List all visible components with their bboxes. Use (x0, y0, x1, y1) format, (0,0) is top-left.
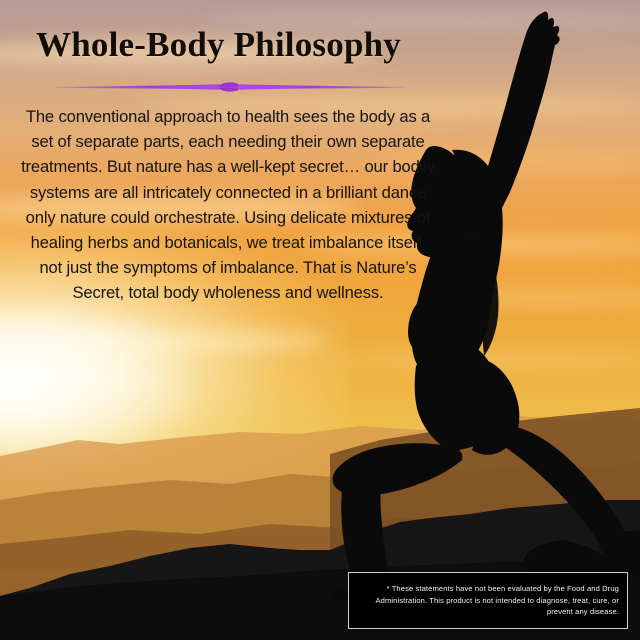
poster-canvas: Whole-Body Philosophy (0, 0, 640, 640)
page-title: Whole-Body Philosophy (36, 25, 401, 65)
body-paragraph: The conventional approach to health sees… (18, 104, 438, 306)
body-copy: The conventional approach to health sees… (18, 104, 438, 306)
disclaimer-box: * These statements have not been evaluat… (348, 572, 628, 629)
ornament-divider (50, 80, 410, 94)
disclaimer-text: * These statements have not been evaluat… (359, 583, 619, 618)
